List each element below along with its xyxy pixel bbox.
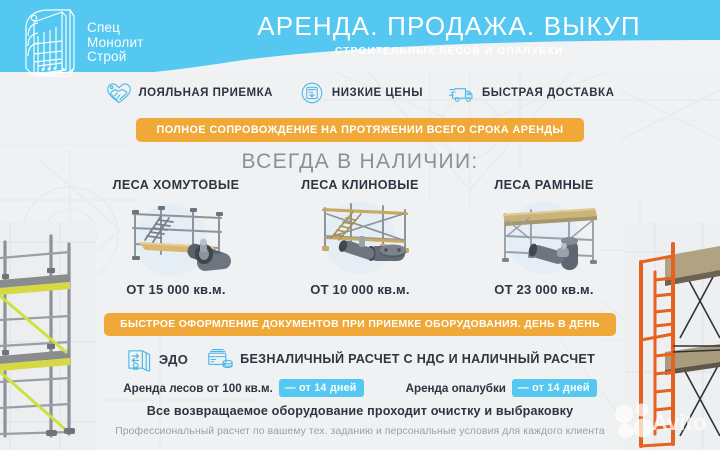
term-label: Аренда опалубки xyxy=(406,382,506,395)
availability-heading: ВСЕГДА В НАЛИЧИИ: xyxy=(0,150,720,174)
product-name: ЛЕСА КЛИНОВЫЕ xyxy=(268,178,452,192)
product-card[interactable]: ЛЕСА ХОМУТОВЫЕ xyxy=(84,178,268,306)
payment-label: ЭДО xyxy=(159,352,188,367)
handshake-heart-icon xyxy=(106,81,132,105)
product-price: ОТ 10 000 кв.м. xyxy=(268,282,452,297)
ribbon-fast-paperwork: БЫСТРОЕ ОФОРМЛЕНИЕ ДОКУМЕНТОВ ПРИ ПРИЕМК… xyxy=(104,313,616,336)
term-badge: — от 14 дней xyxy=(279,379,364,397)
edo-document-exchange-icon xyxy=(125,347,152,372)
product-price: ОТ 23 000 кв.м. xyxy=(452,282,636,297)
low-price-tag-icon xyxy=(299,81,325,105)
feature-item: БЫСТРАЯ ДОСТАВКА xyxy=(449,81,614,105)
bottom-thin-text: Профессиональный расчет по вашему тех. з… xyxy=(0,426,720,437)
feature-item: НИЗКИЕ ЦЕНЫ xyxy=(299,81,423,105)
payment-row: ЭДО БЕЗНАЛИЧНЫЙ РАСЧЕТ С НДС И НАЛИЧНЫЙ … xyxy=(0,344,720,374)
feature-label: НИЗКИЕ ЦЕНЫ xyxy=(332,87,423,99)
payment-label: БЕЗНАЛИЧНЫЙ РАСЧЕТ С НДС И НАЛИЧНЫЙ РАСЧ… xyxy=(240,352,595,366)
term-badge: — от 14 дней xyxy=(512,379,597,397)
term-item: Аренда лесов от 100 кв.м. — от 14 дней xyxy=(123,379,363,397)
brand-logo[interactable]: Спец Монолит Строй xyxy=(18,6,144,80)
product-name: ЛЕСА РАМНЫЕ xyxy=(452,178,636,192)
product-card[interactable]: ЛЕСА РАМНЫЕ xyxy=(452,178,636,306)
building-crane-logo-icon xyxy=(18,6,80,80)
brand-name-line1: Спец xyxy=(87,21,144,36)
brand-name: Спец Монолит Строй xyxy=(87,21,144,65)
card-and-cash-icon xyxy=(206,347,233,372)
products-row: ЛЕСА ХОМУТОВЫЕ xyxy=(84,178,636,306)
bottom-bold-text: Все возвращаемое оборудование проходит о… xyxy=(0,404,720,418)
payment-item-edo: ЭДО xyxy=(125,347,188,372)
frame-scaffolding-image xyxy=(452,196,636,278)
term-item: Аренда опалубки — от 14 дней xyxy=(406,379,597,397)
product-name: ЛЕСА ХОМУТОВЫЕ xyxy=(84,178,268,192)
brand-name-line2: Монолит xyxy=(87,36,144,51)
product-price: ОТ 15 000 кв.м. xyxy=(84,282,268,297)
term-label: Аренда лесов от 100 кв.м. xyxy=(123,382,273,395)
ribbon-full-support: ПОЛНОЕ СОПРОВОЖДЕНИЕ НА ПРОТЯЖЕНИИ ВСЕГО… xyxy=(136,118,584,142)
clamp-scaffolding-image xyxy=(84,196,268,278)
feature-label: ЛОЯЛЬНАЯ ПРИЕМКА xyxy=(139,87,273,99)
product-card[interactable]: ЛЕСА КЛИНОВЫЕ xyxy=(268,178,452,306)
delivery-truck-icon xyxy=(449,81,475,105)
wedge-scaffolding-image xyxy=(268,196,452,278)
brand-name-line3: Строй xyxy=(87,50,144,65)
feature-item: ЛОЯЛЬНАЯ ПРИЕМКА xyxy=(106,81,273,105)
features-row: ЛОЯЛЬНАЯ ПРИЕМКА НИЗКИЕ ЦЕНЫ xyxy=(0,76,720,110)
feature-label: БЫСТРАЯ ДОСТАВКА xyxy=(482,87,614,99)
advertisement-banner: Спец Монолит Строй АРЕНДА. ПРОДАЖА. ВЫКУ… xyxy=(0,0,720,450)
payment-item-cash: БЕЗНАЛИЧНЫЙ РАСЧЕТ С НДС И НАЛИЧНЫЙ РАСЧ… xyxy=(206,347,595,372)
terms-row: Аренда лесов от 100 кв.м. — от 14 дней А… xyxy=(0,378,720,398)
